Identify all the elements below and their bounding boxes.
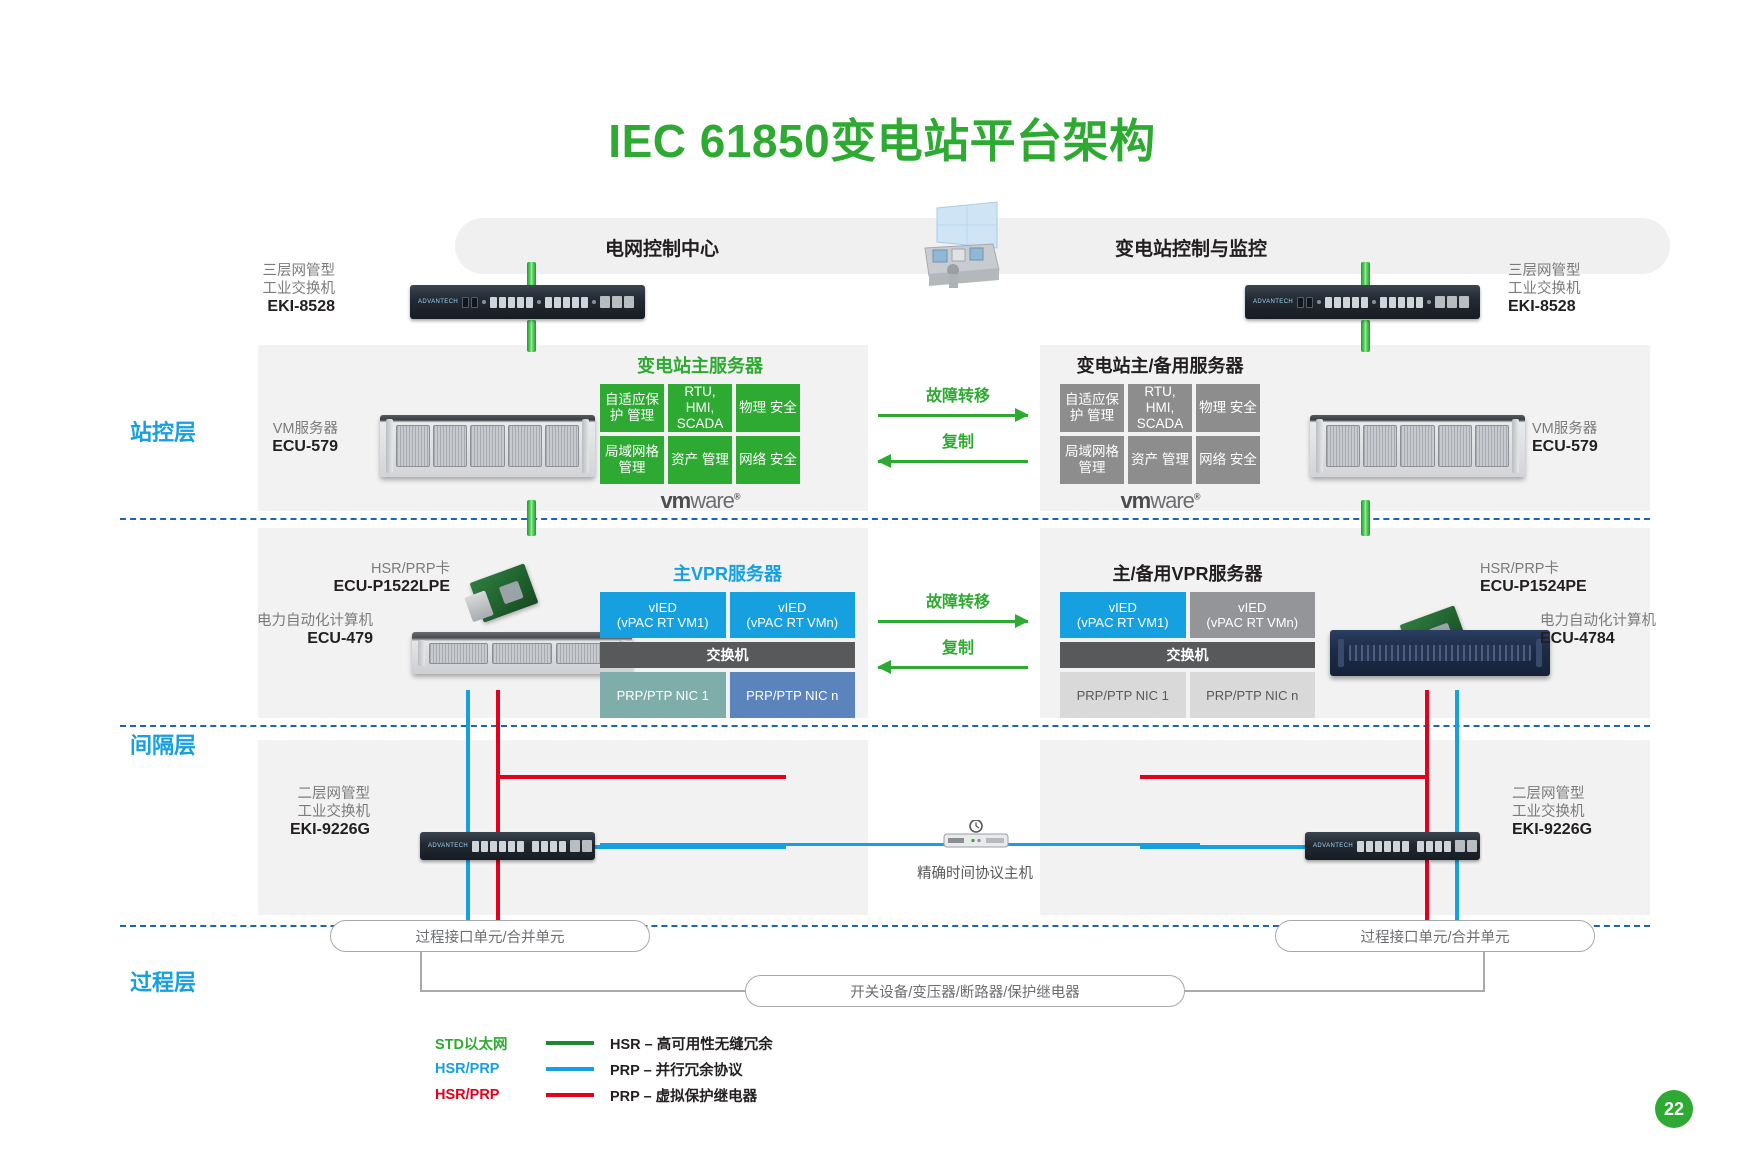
label-line-1: VM服务器	[218, 420, 338, 438]
label-line-1: HSR/PRP卡	[1480, 560, 1640, 578]
layer-label-process: 过程层	[130, 965, 250, 997]
label-model: ECU-P1524PE	[1480, 578, 1640, 596]
station-main-server-title: 变电站主服务器	[600, 352, 800, 378]
nic-cell: PRP/PTP NIC n	[1190, 672, 1316, 718]
bay-failover-arrow	[878, 620, 1028, 623]
link-blue-ptp-bus	[600, 843, 1200, 846]
process-equipment-capsule: 开关设备/变压器/断路器/保护继电器	[745, 975, 1185, 1007]
label-switch-eki8528-right: 三层网管型 工业交换机 EKI-8528	[1508, 262, 1648, 316]
label-line-1: 二层网管型	[1512, 785, 1652, 803]
process-equipment-text: 开关设备/变压器/断路器/保护继电器	[850, 981, 1080, 1002]
cable-green-station-to-bay-right	[1361, 500, 1370, 536]
legend-desc: PRP – 虚拟保护继电器	[610, 1085, 757, 1106]
label-model: ECU-579	[1532, 438, 1662, 456]
brand-text: ADVANTECH	[428, 843, 468, 849]
vied-cell: vIED (vPAC RT VM1)	[600, 592, 726, 638]
server-ecu4784-image	[1330, 630, 1550, 676]
service-cell: 资产 管理	[668, 436, 732, 484]
label-model: ECU-P1522LPE	[290, 578, 450, 596]
label-line-2: 工业交换机	[210, 280, 335, 298]
cable-green-station-to-bay-left	[527, 500, 536, 536]
label-line-2: 工业交换机	[1508, 280, 1648, 298]
legend-tag: STD以太网	[435, 1033, 530, 1054]
label-line-2: 工业交换机	[240, 803, 370, 821]
label-model: EKI-8528	[1508, 298, 1648, 316]
bay-failover-label: 故障转移	[878, 588, 1038, 612]
process-interface-left-text: 过程接口单元/合并单元	[415, 926, 564, 947]
legend-row: HSR/PRP PRP – 虚拟保护继电器	[435, 1082, 855, 1108]
service-cell: 物理 安全	[736, 384, 800, 432]
label-line-1: 二层网管型	[240, 785, 370, 803]
label-line-2: 工业交换机	[1512, 803, 1652, 821]
label-nic-card-left: HSR/PRP卡 ECU-P1522LPE	[290, 560, 450, 596]
service-cell: 局域网格 管理	[600, 436, 664, 484]
label-model: EKI-9226G	[1512, 821, 1652, 839]
station-backup-server-panel: 变电站主/备用服务器 自适应保护 管理 RTU, HMI, SCADA 物理 安…	[1060, 352, 1260, 514]
process-interface-unit-left: 过程接口单元/合并单元	[330, 920, 650, 952]
vpr-backup-vied-row: vIED (vPAC RT VM1) vIED (vPAC RT VMn)	[1060, 592, 1315, 638]
label-server-ecu579-right: VM服务器 ECU-579	[1532, 420, 1662, 456]
layer-label-bay: 间隔层	[130, 728, 250, 760]
station-backup-server-grid: 自适应保护 管理 RTU, HMI, SCADA 物理 安全 局域网格 管理 资…	[1060, 384, 1260, 484]
page-number-badge: 22	[1655, 1090, 1693, 1128]
vied-cell: vIED (vPAC RT VM1)	[1060, 592, 1186, 638]
brand-text: ADVANTECH	[1313, 843, 1353, 849]
label-model: ECU-4784	[1540, 630, 1695, 648]
station-failover-label: 故障转移	[878, 382, 1038, 406]
vied-cell: vIED (vPAC RT VMn)	[1190, 592, 1316, 638]
label-switch-eki8528-left: 三层网管型 工业交换机 EKI-8528	[210, 262, 335, 316]
vied-cell: vIED (vPAC RT VMn)	[730, 592, 856, 638]
switch-eki8528-right-image: ADVANTECH	[1245, 285, 1480, 319]
switch-eki9226g-left-image: ADVANTECH	[420, 832, 595, 860]
nic-cell: PRP/PTP NIC n	[730, 672, 856, 718]
station-replicate-label: 复制	[878, 428, 1038, 452]
label-server-ecu479: 电力自动化计算机 ECU-479	[228, 612, 373, 648]
brand-text: ADVANTECH	[1253, 299, 1293, 305]
station-failover-flow: 故障转移	[878, 382, 1038, 417]
label-model: ECU-479	[228, 630, 373, 648]
service-cell: 网络 安全	[1196, 436, 1260, 484]
ptp-master-label: 精确时间协议主机	[830, 862, 1120, 883]
bay-replicate-flow: 复制	[878, 634, 1038, 669]
vied-cell-text: vIED (vPAC RT VMn)	[746, 600, 838, 630]
ptp-master-icon	[940, 820, 1012, 850]
service-cell: RTU, HMI, SCADA	[668, 384, 732, 432]
link-blue-left-vertical	[466, 690, 470, 925]
legend-line-swatch	[546, 1067, 594, 1071]
legend-desc: HSR – 高可用性无缝冗余	[610, 1033, 773, 1054]
cable-green-switch-to-station-left	[527, 320, 536, 352]
service-cell: 资产 管理	[1128, 436, 1192, 484]
link-blue-right-vertical	[1455, 690, 1459, 925]
station-replicate-flow: 复制	[878, 428, 1038, 463]
station-backup-server-title: 变电站主/备用服务器	[1060, 352, 1260, 378]
bay-replicate-label: 复制	[878, 634, 1038, 658]
station-failover-arrow	[878, 414, 1028, 417]
legend-line-swatch	[546, 1093, 594, 1097]
connector-right-vertical	[1483, 952, 1485, 991]
brand-text: ADVANTECH	[418, 299, 458, 305]
station-main-server-grid: 自适应保护 管理 RTU, HMI, SCADA 物理 安全 局域网格 管理 资…	[600, 384, 800, 484]
process-interface-right-text: 过程接口单元/合并单元	[1360, 926, 1509, 947]
legend-row: HSR/PRP PRP – 并行冗余协议	[435, 1056, 855, 1082]
control-room-icon	[905, 200, 1010, 295]
service-cell: 物理 安全	[1196, 384, 1260, 432]
label-model: EKI-9226G	[240, 821, 370, 839]
label-switch-eki9226g-right: 二层网管型 工业交换机 EKI-9226G	[1512, 785, 1652, 839]
link-red-left-vertical	[496, 690, 500, 925]
vpr-main-panel: 主VPR服务器 vIED (vPAC RT VM1) vIED (vPAC RT…	[600, 560, 855, 718]
label-line-1: 电力自动化计算机	[1540, 612, 1695, 630]
service-cell: 自适应保护 管理	[600, 384, 664, 432]
legend-tag: HSR/PRP	[435, 1061, 530, 1077]
substation-control-label: 变电站控制与监控	[1115, 234, 1267, 261]
label-server-ecu579-left: VM服务器 ECU-579	[218, 420, 338, 456]
label-line-1: 三层网管型	[210, 262, 335, 280]
server-ecu479-image	[412, 632, 632, 674]
legend-tag: HSR/PRP	[435, 1087, 530, 1103]
link-red-left-horizontal	[496, 775, 786, 779]
vmware-logo-left: vmware®	[600, 488, 800, 514]
connector-left-horizontal	[420, 990, 745, 992]
service-cell: 局域网格 管理	[1060, 436, 1124, 484]
vmware-logo-right: vmware®	[1060, 488, 1260, 514]
label-switch-eki9226g-left: 二层网管型 工业交换机 EKI-9226G	[240, 785, 370, 839]
station-main-server-panel: 变电站主服务器 自适应保护 管理 RTU, HMI, SCADA 物理 安全 局…	[600, 352, 800, 514]
label-server-ecu4784: 电力自动化计算机 ECU-4784	[1540, 612, 1695, 648]
vied-cell-text: vIED (vPAC RT VMn)	[1206, 600, 1298, 630]
vpr-backup-panel: 主/备用VPR服务器 vIED (vPAC RT VM1) vIED (vPAC…	[1060, 560, 1315, 718]
vpr-main-switch-bar: 交换机	[600, 642, 855, 668]
legend: STD以太网 HSR – 高可用性无缝冗余 HSR/PRP PRP – 并行冗余…	[435, 1030, 855, 1108]
service-cell: 自适应保护 管理	[1060, 384, 1124, 432]
switch-eki8528-left-image: ADVANTECH	[410, 285, 645, 319]
link-red-right-vertical	[1425, 690, 1429, 925]
vpr-main-nic-row: PRP/PTP NIC 1 PRP/PTP NIC n	[600, 672, 855, 718]
server-ecu579-right-image	[1310, 415, 1525, 477]
link-red-right-horizontal	[1140, 775, 1429, 779]
legend-line-swatch	[546, 1041, 594, 1045]
label-line-1: 三层网管型	[1508, 262, 1648, 280]
legend-desc: PRP – 并行冗余协议	[610, 1059, 743, 1080]
label-model: EKI-8528	[210, 298, 335, 316]
grid-control-center-label: 电网控制中心	[605, 234, 719, 261]
station-replicate-arrow	[878, 460, 1028, 463]
nic-cell: PRP/PTP NIC 1	[1060, 672, 1186, 718]
server-ecu579-left-image	[380, 415, 595, 477]
vpr-main-vied-row: vIED (vPAC RT VM1) vIED (vPAC RT VMn)	[600, 592, 855, 638]
bay-failover-flow: 故障转移	[878, 588, 1038, 623]
page-title: IEC 61850变电站平台架构	[0, 105, 1764, 171]
bay-replicate-arrow	[878, 666, 1028, 669]
connector-right-horizontal	[1185, 990, 1485, 992]
top-context-bar: 电网控制中心 变电站控制与监控	[455, 218, 1670, 274]
switch-eki9226g-right-image: ADVANTECH	[1305, 832, 1480, 860]
label-line-1: VM服务器	[1532, 420, 1662, 438]
service-cell: 网络 安全	[736, 436, 800, 484]
legend-row: STD以太网 HSR – 高可用性无缝冗余	[435, 1030, 855, 1056]
diagram-canvas: IEC 61850变电站平台架构 电网控制中心 变电站控制与监控 站控层 间隔层…	[0, 0, 1764, 1172]
vied-cell-text: vIED (vPAC RT VM1)	[617, 600, 709, 630]
layer-separator-station-bay	[120, 518, 1650, 520]
nic-cell: PRP/PTP NIC 1	[600, 672, 726, 718]
vpr-main-title: 主VPR服务器	[600, 560, 855, 586]
vpr-backup-switch-bar: 交换机	[1060, 642, 1315, 668]
label-nic-card-right: HSR/PRP卡 ECU-P1524PE	[1480, 560, 1640, 596]
vpr-backup-title: 主/备用VPR服务器	[1060, 560, 1315, 586]
label-line-1: 电力自动化计算机	[228, 612, 373, 630]
label-model: ECU-579	[218, 438, 338, 456]
cable-green-switch-to-station-right	[1361, 320, 1370, 352]
vpr-backup-nic-row: PRP/PTP NIC 1 PRP/PTP NIC n	[1060, 672, 1315, 718]
connector-left-vertical	[420, 952, 422, 991]
process-interface-unit-right: 过程接口单元/合并单元	[1275, 920, 1595, 952]
label-line-1: HSR/PRP卡	[290, 560, 450, 578]
vied-cell-text: vIED (vPAC RT VM1)	[1077, 600, 1169, 630]
service-cell: RTU, HMI, SCADA	[1128, 384, 1192, 432]
layer-separator-bay-process	[120, 725, 1650, 727]
